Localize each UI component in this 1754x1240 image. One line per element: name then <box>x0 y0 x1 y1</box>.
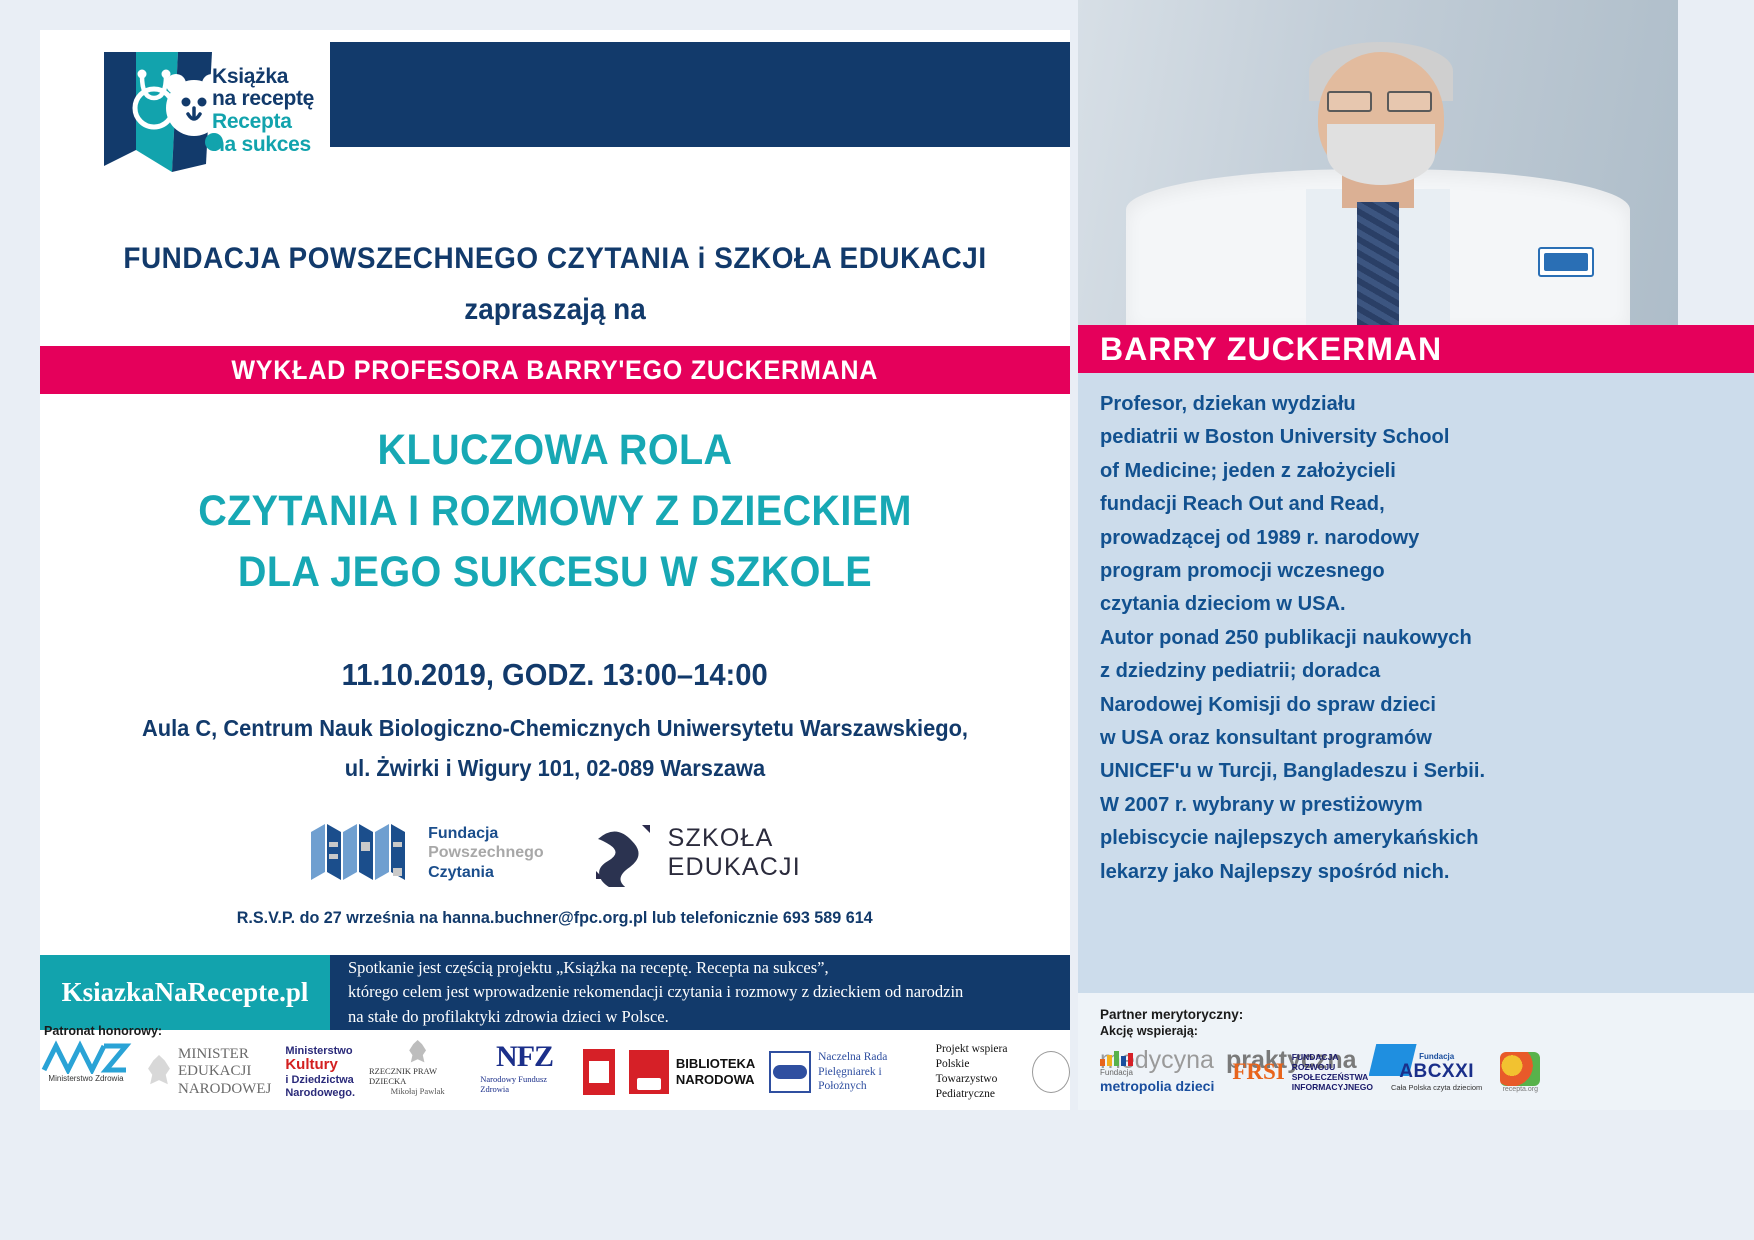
frsi-line-2: ROZWOJU <box>1292 1062 1373 1072</box>
se-line-1: SZKOŁA <box>668 824 801 854</box>
frsi-line-1: FUNDACJA <box>1292 1052 1373 1062</box>
eagle-icon <box>408 1040 428 1066</box>
speaker-bio: Profesor, dziekan wydziału pediatrii w B… <box>1078 373 1754 993</box>
rec-line-1: recepta.org <box>1503 1086 1538 1093</box>
venue-line-2: ul. Żwirki i Wigury 101, 02-089 Warszawa <box>66 748 1045 788</box>
fpc-line-2: Powszechnego <box>428 843 544 863</box>
ptp-seal-icon <box>1032 1051 1070 1093</box>
bio-line: program promocji wczesnego <box>1100 554 1721 587</box>
mz-caption: Ministerstwo Zdrowia <box>48 1074 123 1083</box>
patron-logo-ministerstwo-kultury: Ministerstwo Kultury i Dziedzictwa Narod… <box>285 1040 355 1104</box>
ministerstwo-zdrowia-icon <box>40 1040 132 1074</box>
patron-label: Patronat honorowy: <box>44 1024 162 1038</box>
patron-logo-naczelna-rada: Naczelna Rada Pielęgniarek i Położnych <box>769 1040 921 1104</box>
speaker-photo <box>1078 0 1678 325</box>
bio-line: Narodowej Komisji do spraw dzieci <box>1100 688 1721 721</box>
speaker-panel: BARRY ZUCKERMAN Profesor, dziekan wydzia… <box>1078 0 1754 1110</box>
bio-line: W 2007 r. wybrany w prestiżowym <box>1100 788 1721 821</box>
organizers-line: FUNDACJA POWSZECHNEGO CZYTANIA i SZKOŁA … <box>76 242 1034 276</box>
bio-line: z dziedziny pediatrii; doradca <box>1100 654 1721 687</box>
fpc-line-1: Fundacja <box>428 824 544 844</box>
invite-verb: zapraszają na <box>76 293 1034 327</box>
bio-line: lekarzy jako Najlepszy spośród nich. <box>1100 855 1721 888</box>
boston-medical-badge-icon <box>1538 247 1594 277</box>
rpd-line-1: RZECZNIK PRAW DZIECKA <box>369 1066 466 1086</box>
lecture-banner: WYKŁAD PROFESORA BARRY'EGO ZUCKERMANA <box>40 346 1070 394</box>
frsi-line-4: INFORMACYJNEGO <box>1292 1082 1373 1092</box>
title-line-1: KLUCZOWA ROLA <box>81 420 1029 481</box>
lecture-banner-label: WYKŁAD PROFESORA BARRY'EGO ZUCKERMANA <box>232 355 879 386</box>
supporters-section: Akcję wspierają: Fundacja metropolia dzi… <box>1078 1012 1754 1112</box>
supporter-logo-frsi: FRSI FUNDACJA ROZWOJU SPOŁECZEŃSTWA INFO… <box>1232 1052 1373 1093</box>
patron-logo-nfz: NFZ Narodowy Fundusz Zdrowia <box>480 1040 569 1104</box>
supporter-logo-recepta-org: recepta.org <box>1500 1052 1540 1093</box>
bio-line: w USA oraz konsultant programów <box>1100 721 1721 754</box>
men-line-2: EDUKACJI <box>178 1063 271 1080</box>
men-line-3: NARODOWEJ <box>178 1081 271 1098</box>
bio-line: Profesor, dziekan wydziału <box>1100 387 1721 420</box>
frsi-line-3: SPOŁECZEŃSTWA <box>1292 1072 1373 1082</box>
recepta-mark-icon <box>1500 1052 1540 1086</box>
speaker-name: BARRY ZUCKERMAN <box>1078 331 1442 368</box>
fpc-line-3: Czytania <box>428 863 544 883</box>
instytut-ksiazki-icon <box>583 1049 615 1095</box>
metropolia-bars-icon <box>1100 1050 1214 1066</box>
patron-logo-list: Ministerstwo Zdrowia MINISTER EDUKACJI N… <box>40 1038 1070 1106</box>
bio-line: czytania dzieciom w USA. <box>1100 587 1721 620</box>
fmd-line-1: Fundacja <box>1100 1068 1214 1077</box>
men-line-1: MINISTER <box>178 1046 271 1063</box>
fpc-mark-icon <box>309 822 419 884</box>
nrp-line-2: Pielęgniarek i Położnych <box>818 1065 921 1094</box>
logo-line-1: Książka <box>212 65 288 88</box>
bn-line-2: NARODOWA <box>676 1072 755 1088</box>
bio-line: UNICEF'u w Turcji, Bangladeszu i Serbii. <box>1100 754 1721 787</box>
frsi-mark: FRSI <box>1232 1059 1284 1085</box>
project-desc-line-2: którego celem jest wprowadzenie rekomend… <box>348 980 1070 1004</box>
event-venue: Aula C, Centrum Nauk Biologiczno-Chemicz… <box>40 708 1070 789</box>
bio-line: prowadzącej od 1989 r. narodowy <box>1100 521 1721 554</box>
supporters-logo-list: Fundacja metropolia dzieci FRSI FUNDACJA… <box>1100 1038 1740 1106</box>
patron-logo-minister-edukacji: MINISTER EDUKACJI NARODOWEJ <box>146 1040 271 1104</box>
brand-logo: Książka na receptę Recepta na sukces <box>52 38 342 183</box>
fmd-line-2: metropolia dzieci <box>1100 1078 1214 1094</box>
se-line-2: EDUKACJI <box>668 853 801 883</box>
mk-line-2: Kultury <box>285 1057 355 1074</box>
patron-logo-ministerstwo-zdrowia: Ministerstwo Zdrowia <box>40 1040 132 1104</box>
bio-line: pediatrii w Boston University School <box>1100 420 1721 453</box>
abc-line-3: Cała Polska czyta dzieciom <box>1391 1083 1482 1092</box>
bn-line-1: BIBLIOTEKA <box>676 1056 755 1072</box>
bio-line: Autor ponad 250 publikacji naukowych <box>1100 621 1721 654</box>
ptp-line-3: Pediatryczne <box>936 1087 1024 1102</box>
website-url: KsiazkaNaRecepte.pl <box>62 977 309 1008</box>
project-desc-line-1: Spotkanie jest częścią projektu „Książka… <box>348 956 1070 980</box>
supporter-logo-metropolia-dzieci: Fundacja metropolia dzieci <box>1100 1050 1214 1093</box>
rpd-line-2: Mikołaj Pawlak <box>391 1086 445 1096</box>
poster-root: Książka na receptę Recepta na sukces FUN… <box>0 0 1754 1240</box>
event-datetime: 11.10.2019, GODZ. 13:00–14:00 <box>40 657 1070 693</box>
rsvp-line: R.S.V.P. do 27 września na hanna.buchner… <box>40 908 1070 928</box>
main-panel: Książka na receptę Recepta na sukces FUN… <box>40 30 1070 1110</box>
patron-logo-polskie-towarzystwo-pediatryczne: Projekt wspiera Polskie Towarzystwo Pedi… <box>936 1040 1070 1104</box>
event-datetime-text: 11.10.2019, GODZ. 13:00–14:00 <box>342 657 768 693</box>
nfz-mark: NFZ <box>496 1040 553 1074</box>
organizer-logos: Fundacja Powszechnego Czytania SZKOŁA ED… <box>40 808 1070 898</box>
patron-honorary: Patronat honorowy: Ministerstwo Zdrowia … <box>40 1012 1070 1112</box>
title-line-2: CZYTANIA I ROZMOWY Z DZIECKIEM <box>81 481 1029 542</box>
szkola-edukacji-logo: SZKOŁA EDUKACJI <box>592 819 801 887</box>
abc-line-1: Fundacja <box>1419 1052 1454 1061</box>
logo-line-2: na receptę <box>212 87 314 110</box>
nrp-line-1: Naczelna Rada <box>818 1050 921 1064</box>
supporter-logo-abcxxi: Fundacja ABCXXI Cała Polska czyta dzieci… <box>1391 1052 1482 1092</box>
ptp-line-1: Projekt wspiera <box>936 1042 1024 1057</box>
patron-strip: Patronat honorowy: Ministerstwo Zdrowia … <box>40 1012 1070 1112</box>
fpc-logo: Fundacja Powszechnego Czytania <box>309 822 544 884</box>
supporters-label: Akcję wspierają: <box>1100 1024 1198 1038</box>
patron-logo-biblioteka-narodowa: BIBLIOTEKA NARODOWA <box>629 1040 755 1104</box>
abc-line-2: ABCXXI <box>1399 1061 1474 1083</box>
bio-line: plebiscycie najlepszych amerykańskich <box>1100 821 1721 854</box>
bio-line: of Medicine; jeden z założycieli <box>1100 454 1721 487</box>
venue-line-1: Aula C, Centrum Nauk Biologiczno-Chemicz… <box>66 708 1045 748</box>
bio-line: fundacji Reach Out and Read, <box>1100 487 1721 520</box>
patron-logo-instytut-ksiazki <box>583 1040 615 1104</box>
speaker-name-band: BARRY ZUCKERMAN <box>1078 325 1754 373</box>
logo-line-4: na sukces <box>212 133 311 156</box>
ptp-line-2: Polskie Towarzystwo <box>936 1057 1024 1087</box>
szkola-edukacji-mark-icon <box>592 819 654 887</box>
title-line-3: DLA JEGO SUKCESU W SZKOLE <box>81 542 1029 603</box>
naczelna-rada-icon <box>769 1051 811 1093</box>
nfz-caption: Narodowy Fundusz Zdrowia <box>480 1074 569 1094</box>
rsvp-text: R.S.V.P. do 27 września na hanna.buchner… <box>237 908 873 928</box>
header-navy-band <box>330 42 1070 147</box>
patron-logo-rzecznik-praw-dziecka: RZECZNIK PRAW DZIECKA Mikołaj Pawlak <box>369 1040 466 1104</box>
biblioteka-narodowa-icon <box>629 1050 669 1094</box>
mk-line-4: Narodowego. <box>285 1087 355 1099</box>
logo-line-3: Recepta <box>212 110 292 133</box>
eagle-icon <box>146 1055 172 1089</box>
mk-line-3: i Dziedzictwa <box>285 1074 355 1086</box>
lecture-title: KLUCZOWA ROLA CZYTANIA I ROZMOWY Z DZIEC… <box>40 420 1070 603</box>
